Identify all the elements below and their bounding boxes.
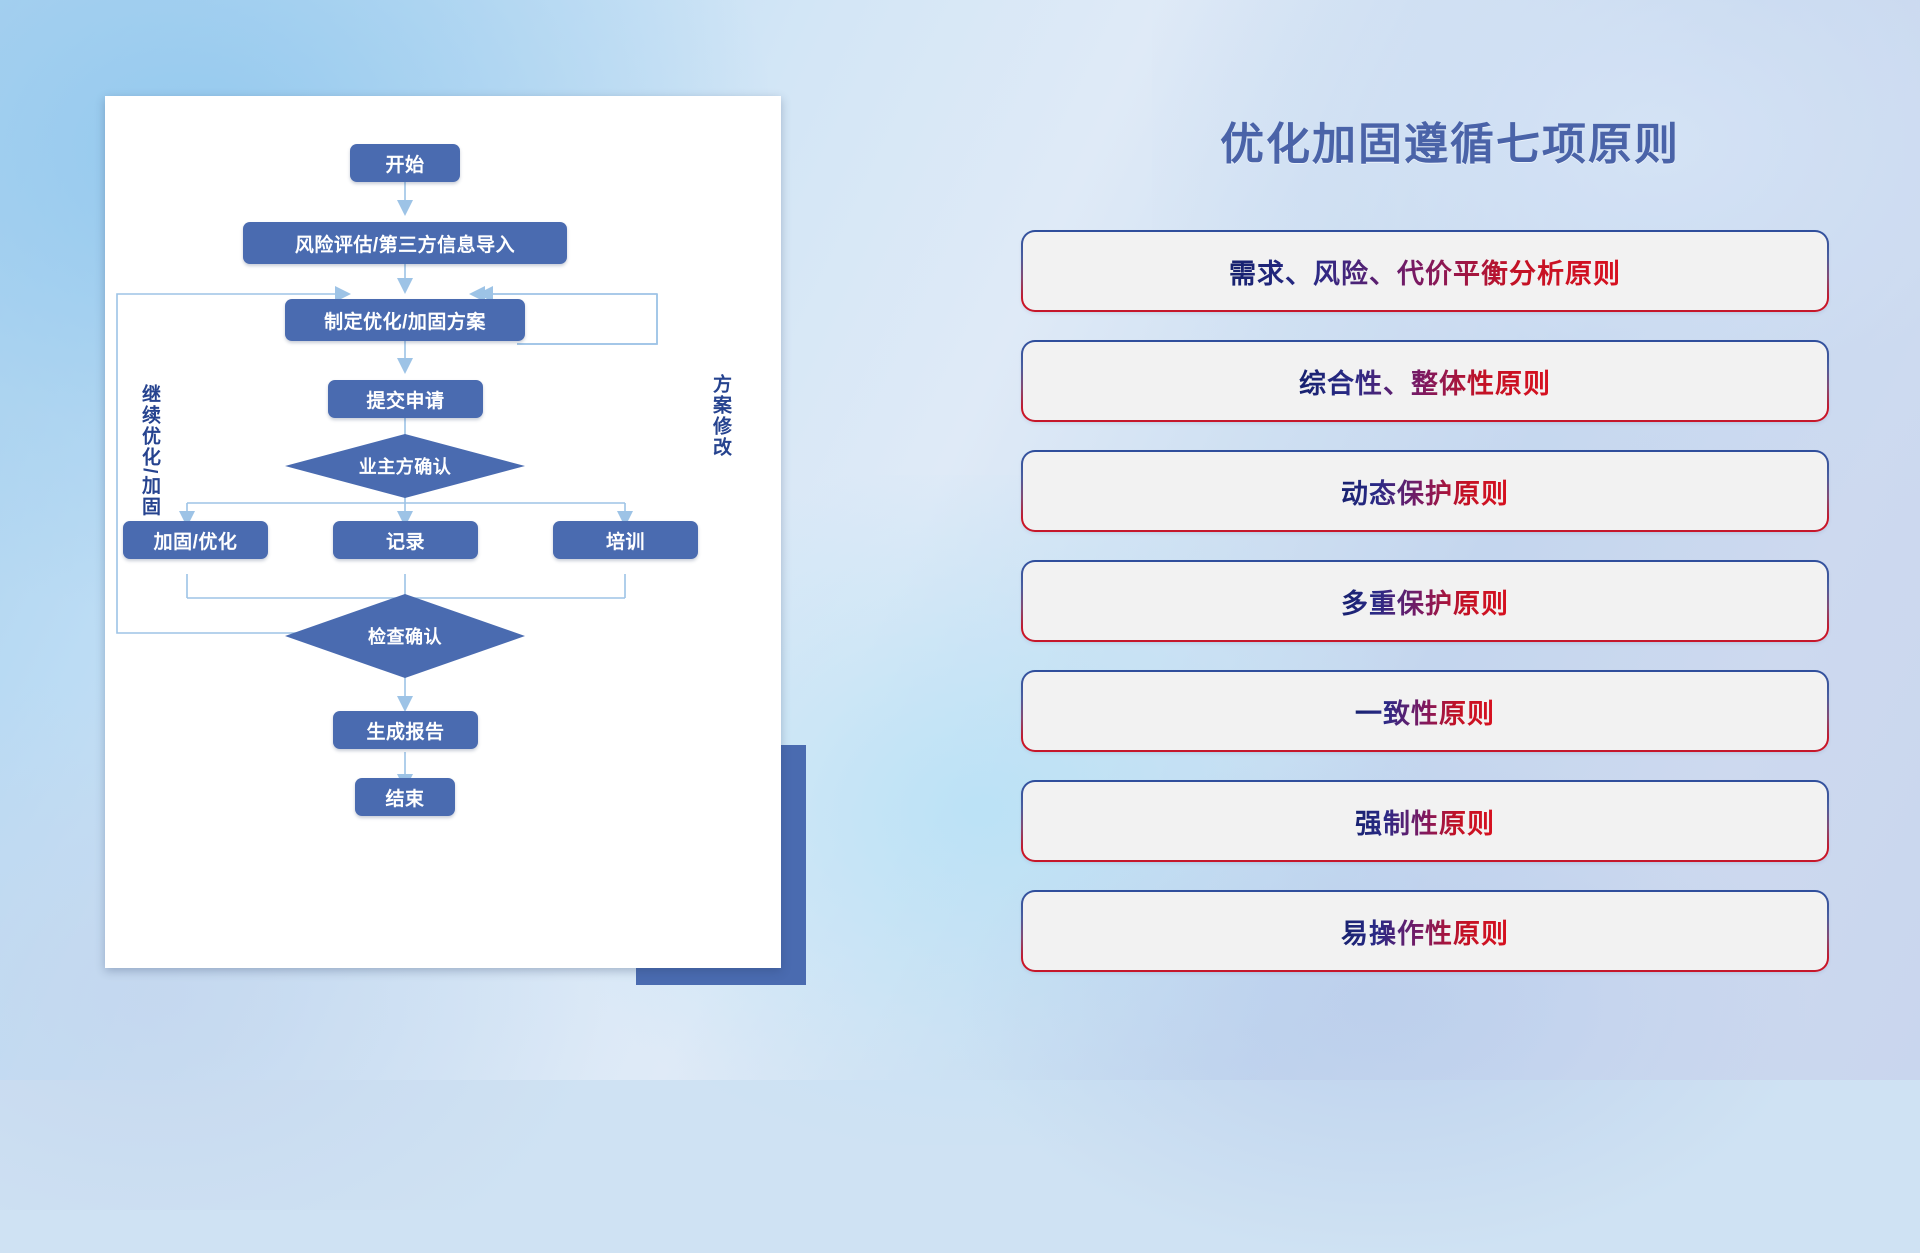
flow-node-generate-report[interactable]: 生成报告 xyxy=(333,711,478,749)
principles-panel: 优化加固遵循七项原则 需求、风险、代价平衡分析原则 综合性、整体性原则 动态保护… xyxy=(1020,0,1920,1080)
principle-card-5[interactable]: 一致性原则 xyxy=(1023,672,1827,750)
flow-edge-label-plan-revision: 方案修改 xyxy=(710,374,730,494)
flowchart-sheet: 开始 风险评估/第三方信息导入 制定优化/加固方案 提交申请 业主方确认 加固/… xyxy=(105,96,781,968)
principle-label: 一致性原则 xyxy=(1355,692,1495,731)
principle-card-3[interactable]: 动态保护原则 xyxy=(1023,452,1827,530)
principle-label: 综合性、整体性原则 xyxy=(1299,362,1551,401)
principles-list: 需求、风险、代价平衡分析原则 综合性、整体性原则 动态保护原则 多重保护原则 一… xyxy=(1023,232,1827,1002)
flow-node-start[interactable]: 开始 xyxy=(350,144,460,182)
flow-node-record[interactable]: 记录 xyxy=(333,521,478,559)
flow-node-submit-application[interactable]: 提交申请 xyxy=(328,380,483,418)
flow-node-end[interactable]: 结束 xyxy=(355,778,455,816)
principle-card-6[interactable]: 强制性原则 xyxy=(1023,782,1827,860)
flow-decision-owner-confirm-label: 业主方确认 xyxy=(359,453,452,479)
principle-label: 多重保护原则 xyxy=(1341,582,1509,621)
flow-decision-check-confirm-label: 检查确认 xyxy=(368,623,442,649)
flow-decision-owner-confirm[interactable]: 业主方确认 xyxy=(285,434,525,498)
flow-decision-check-confirm[interactable]: 检查确认 xyxy=(285,594,525,678)
flowchart: 开始 风险评估/第三方信息导入 制定优化/加固方案 提交申请 业主方确认 加固/… xyxy=(105,96,781,968)
principle-card-4[interactable]: 多重保护原则 xyxy=(1023,562,1827,640)
flow-node-training[interactable]: 培训 xyxy=(553,521,698,559)
panel-title: 优化加固遵循七项原则 xyxy=(1020,108,1880,172)
flow-node-risk-assessment[interactable]: 风险评估/第三方信息导入 xyxy=(243,222,567,264)
principle-label: 动态保护原则 xyxy=(1341,472,1509,511)
principle-card-7[interactable]: 易操作性原则 xyxy=(1023,892,1827,970)
principle-card-1[interactable]: 需求、风险、代价平衡分析原则 xyxy=(1023,232,1827,310)
principle-label: 易操作性原则 xyxy=(1341,912,1509,951)
principle-label: 需求、风险、代价平衡分析原则 xyxy=(1229,252,1621,291)
principle-label: 强制性原则 xyxy=(1355,802,1495,841)
flow-edge-label-continue-optimize: 继续优化/加固 xyxy=(139,384,159,544)
flow-node-make-plan[interactable]: 制定优化/加固方案 xyxy=(285,299,525,341)
principle-card-2[interactable]: 综合性、整体性原则 xyxy=(1023,342,1827,420)
